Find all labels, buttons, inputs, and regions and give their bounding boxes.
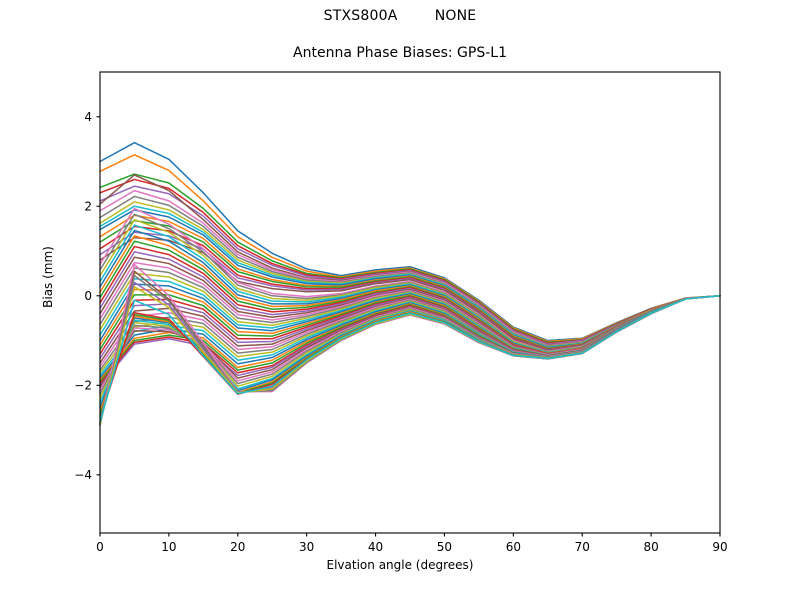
x-tick-label: 80 [643,540,658,554]
x-tick-label: 40 [368,540,383,554]
x-tick-label: 0 [96,540,104,554]
x-tick-label: 10 [161,540,176,554]
x-axis-label: Elvation angle (degrees) [0,558,800,572]
x-tick-label: 50 [437,540,452,554]
x-tick-label: 60 [506,540,521,554]
x-tick-label: 30 [299,540,314,554]
y-axis-ticks: −4−2024 [74,110,100,482]
data-series-group [100,143,720,426]
plot-area: 0102030405060708090−4−2024 [0,0,800,600]
x-axis-ticks: 0102030405060708090 [96,533,727,554]
y-tick-label: 2 [84,199,92,213]
x-tick-label: 70 [575,540,590,554]
y-tick-label: −2 [74,379,92,393]
y-axis-label: Bias (mm) [41,217,55,337]
y-tick-label: 0 [84,289,92,303]
x-tick-label: 90 [712,540,727,554]
x-tick-label: 20 [230,540,245,554]
matplotlib-figure: STXS800A NONE Antenna Phase Biases: GPS-… [0,0,800,600]
y-tick-label: 4 [84,110,92,124]
y-tick-label: −4 [74,468,92,482]
